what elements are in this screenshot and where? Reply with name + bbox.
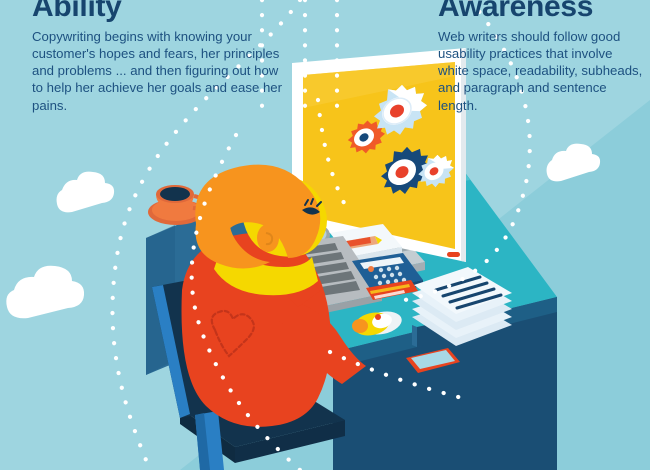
monitor-power-led (447, 252, 460, 257)
awareness-heading: Awareness (438, 0, 644, 22)
calculator-power-key (368, 266, 374, 272)
ability-body: Copywriting begins with knowing your cus… (32, 22, 282, 114)
column-ability: Ability Copywriting begins with knowing … (32, 0, 282, 114)
column-awareness: Awareness Web writers should follow good… (438, 0, 644, 114)
illustration-canvas: Ability Copywriting begins with knowing … (0, 0, 650, 470)
ability-heading: Ability (32, 0, 282, 22)
coffee-surface (160, 187, 190, 201)
awareness-body: Web writers should follow good usability… (438, 22, 644, 114)
person-ear (257, 224, 279, 252)
